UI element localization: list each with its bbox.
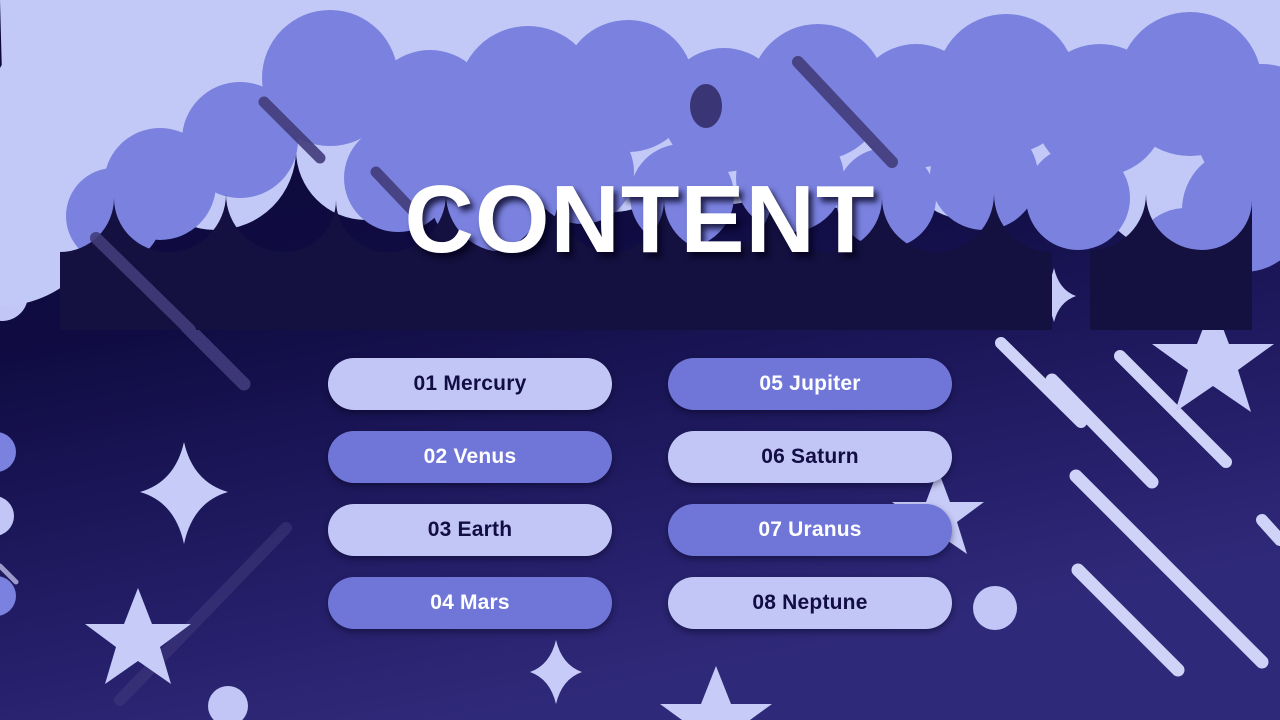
circle-dot-icon — [973, 586, 1017, 630]
sparkle-4-point-icon — [1032, 268, 1076, 322]
circle-dot-icon — [0, 269, 28, 321]
shooting-streak-icon — [120, 528, 286, 700]
content-item-mars[interactable]: 04 Mars — [328, 577, 612, 629]
cloud-band — [0, 0, 1280, 330]
star-5-point-icon — [660, 666, 772, 720]
content-item-uranus[interactable]: 07 Uranus — [668, 504, 952, 556]
content-item-venus[interactable]: 02 Venus — [328, 431, 612, 483]
shooting-streak-icon — [262, 60, 318, 116]
content-item-neptune[interactable]: 08 Neptune — [668, 577, 952, 629]
circle-dot-icon — [0, 496, 14, 536]
circle-dot-icon — [0, 432, 16, 472]
content-item-saturn[interactable]: 06 Saturn — [668, 431, 952, 483]
shooting-streak-icon — [1052, 380, 1152, 482]
shooting-streak-icon — [796, 62, 890, 160]
slide-canvas: CONTENT 01 Mercury02 Venus03 Earth04 Mar… — [0, 0, 1280, 720]
shooting-streak-icon — [1120, 356, 1226, 462]
circle-dot-icon — [690, 84, 722, 128]
shooting-streak-icon — [0, 566, 16, 582]
sparkle-4-point-icon — [530, 640, 582, 704]
content-item-earth[interactable]: 03 Earth — [328, 504, 612, 556]
page-title: CONTENT — [405, 172, 876, 268]
shooting-streak-icon — [264, 102, 320, 158]
shooting-streak-icon — [1078, 570, 1178, 670]
circle-dot-icon — [690, 83, 722, 125]
shooting-streak-icon — [1001, 343, 1081, 422]
shooting-streak-icon — [1262, 520, 1280, 540]
content-item-mercury[interactable]: 01 Mercury — [328, 358, 612, 410]
circle-dot-icon — [208, 686, 248, 720]
content-list: 01 Mercury02 Venus03 Earth04 Mars05 Jupi… — [328, 358, 952, 629]
content-item-jupiter[interactable]: 05 Jupiter — [668, 358, 952, 410]
page-title-wrapper: CONTENT — [0, 172, 1280, 268]
shooting-streak-icon — [1076, 476, 1262, 662]
sparkle-4-point-icon — [140, 442, 228, 544]
shooting-streak-icon — [798, 62, 892, 162]
star-5-point-icon — [1152, 302, 1274, 412]
circle-dot-icon — [0, 576, 16, 616]
star-5-point-icon — [85, 588, 191, 684]
